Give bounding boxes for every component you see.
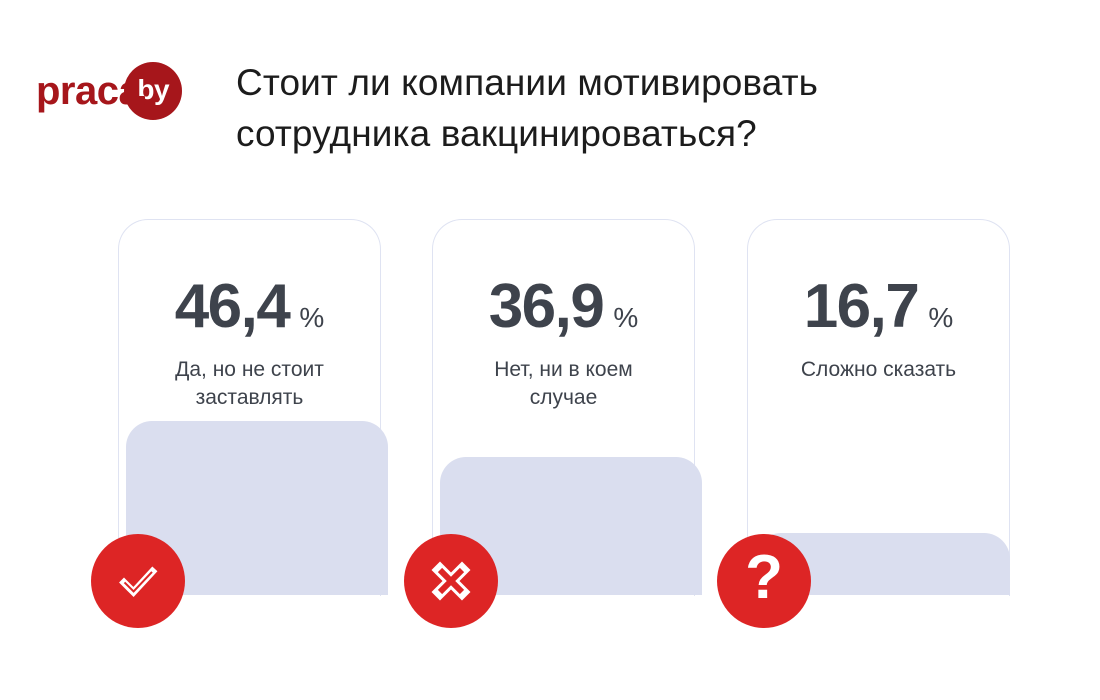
infographic-page: praca by Стоит ли компании мотивировать … <box>0 0 1100 700</box>
chart-value-3-number: 16,7 <box>804 276 919 338</box>
chart-icon-badge-3: ? <box>717 534 811 628</box>
chart-value-1-percent: % <box>299 304 324 332</box>
chart-value-2: 36,9 % <box>432 276 695 338</box>
chart-icon-badge-1 <box>91 534 185 628</box>
bar-chart: 46,4 % Да, но не стоит заставлять 36,9 %… <box>0 0 1100 700</box>
chart-label-1-line-1: Да, но не стоит <box>175 358 324 381</box>
question-icon: ? <box>745 547 783 615</box>
chart-card-1-content: 46,4 % Да, но не стоит заставлять <box>118 276 381 411</box>
chart-label-3: Сложно сказать <box>747 356 1010 384</box>
chart-label-1-line-2: заставлять <box>196 386 304 409</box>
chart-card-2-content: 36,9 % Нет, ни в коем случае <box>432 276 695 411</box>
chart-label-3-line-1: Сложно сказать <box>801 358 956 381</box>
chart-label-1: Да, но не стоит заставлять <box>118 356 381 411</box>
chart-card-3-content: 16,7 % Сложно сказать <box>747 276 1010 384</box>
logo-dot <box>136 96 145 105</box>
chart-value-3: 16,7 % <box>747 276 1010 338</box>
chart-label-2-line-1: Нет, ни в коем <box>494 358 632 381</box>
chart-value-3-percent: % <box>928 304 953 332</box>
chart-value-1-number: 46,4 <box>175 276 290 338</box>
chart-icon-badge-2 <box>404 534 498 628</box>
chart-label-2-line-2: случае <box>530 386 598 409</box>
cross-icon <box>424 554 478 608</box>
chart-value-2-number: 36,9 <box>489 276 604 338</box>
check-icon <box>111 554 165 608</box>
chart-label-2: Нет, ни в коем случае <box>432 356 695 411</box>
chart-value-2-percent: % <box>613 304 638 332</box>
chart-value-1: 46,4 % <box>118 276 381 338</box>
